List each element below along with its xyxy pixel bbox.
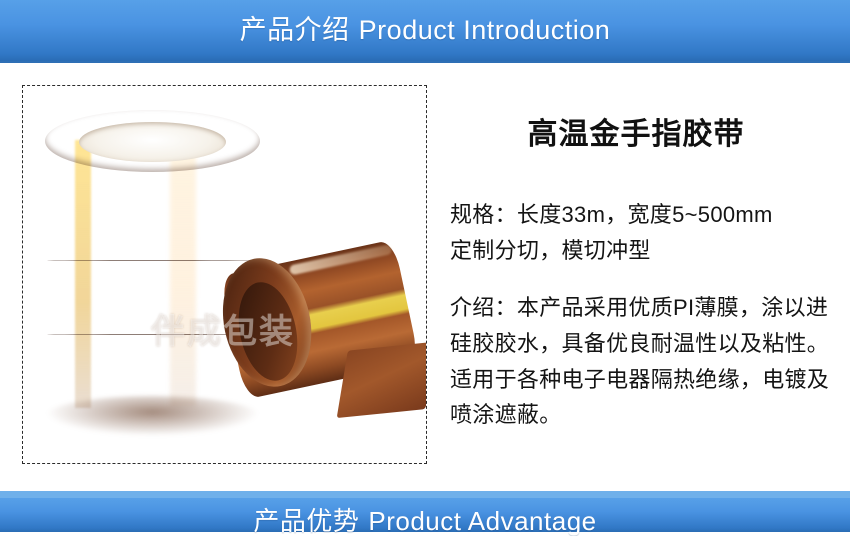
footer-banner-title-text: 产品优势Product Advantage	[253, 508, 596, 534]
tape-roll-gold-reflection	[75, 140, 91, 408]
tape-roll-tilted	[219, 239, 426, 440]
product-photo-frame: 伴成包装	[22, 85, 427, 464]
product-info-column: 高温金手指胶带 规格：长度33m，宽度5~500mm定制分切，模切冲型 介绍：本…	[450, 118, 840, 433]
tape-roll-highlight	[170, 144, 196, 406]
tape-roll-tilted-tail	[337, 342, 426, 418]
tape-roll-white-core	[79, 122, 226, 162]
banner-title-text: 产品介绍Product Introduction	[240, 17, 611, 44]
tape-roll-seam-upper	[47, 260, 258, 261]
product-title: 高温金手指胶带	[450, 118, 840, 151]
section-banner-product-introduction: 产品介绍Product Introduction	[0, 0, 850, 63]
section-banner-product-advantage: 产品优势Product Advantage	[0, 498, 850, 532]
banner-title-chinese: 产品介绍	[240, 15, 350, 45]
product-description: 介绍：本产品采用优质PI薄膜，涂以进硅胶胶水，具备优良耐温性以及粘性。适用于各种…	[450, 290, 840, 433]
tape-roll-base-shadow	[45, 396, 260, 436]
spec-line-1: 规格：长度33m，宽度5~500mm	[450, 202, 773, 227]
tape-roll-stack	[45, 110, 260, 428]
product-photo-image: 伴成包装	[23, 86, 426, 463]
spec-line-2: 定制分切，模切冲型	[450, 238, 651, 263]
banner-title-english: Product Introduction	[359, 15, 611, 45]
banner-accent-strip	[0, 491, 850, 498]
product-specification: 规格：长度33m，宽度5~500mm定制分切，模切冲型	[450, 197, 840, 268]
